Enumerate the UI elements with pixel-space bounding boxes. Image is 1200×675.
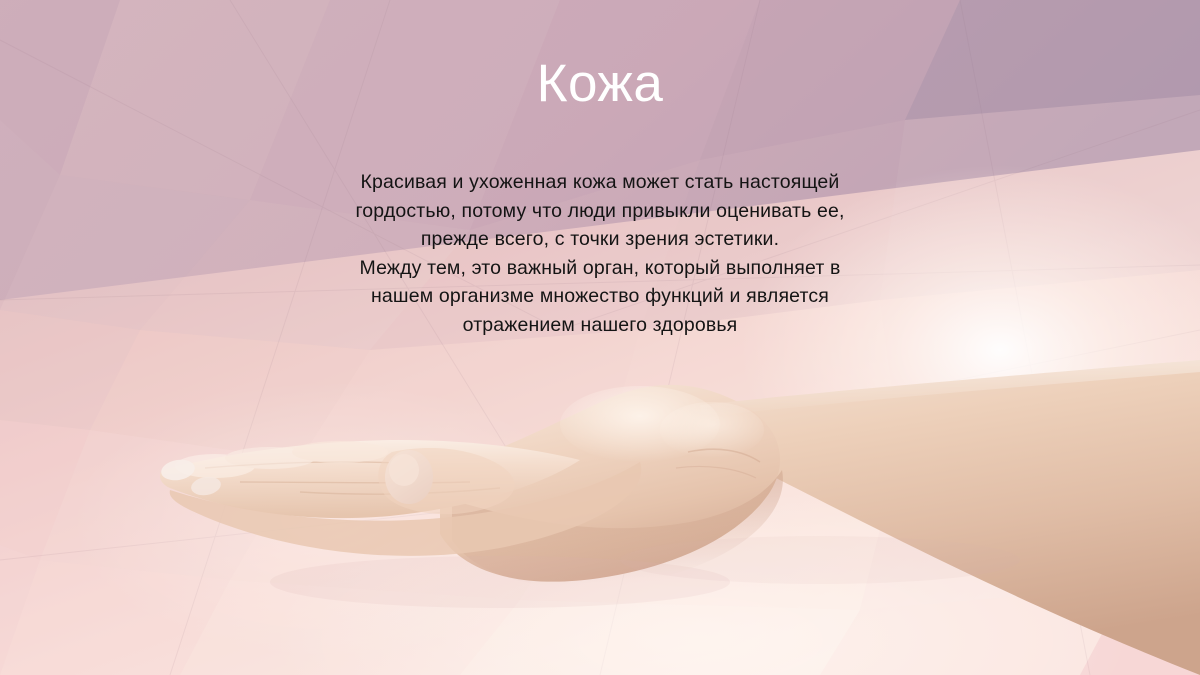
body-paragraph-2: Между тем, это важный орган, который вып… — [240, 254, 960, 340]
page-title: Кожа — [537, 54, 664, 113]
slide-canvas: Кожа Красивая и ухоженная кожа может ста… — [0, 0, 1200, 675]
title-block: Кожа — [0, 18, 1200, 148]
body-text-block: Красивая и ухоженная кожа может стать на… — [240, 168, 960, 340]
body-paragraph-1: Красивая и ухоженная кожа может стать на… — [240, 168, 960, 254]
